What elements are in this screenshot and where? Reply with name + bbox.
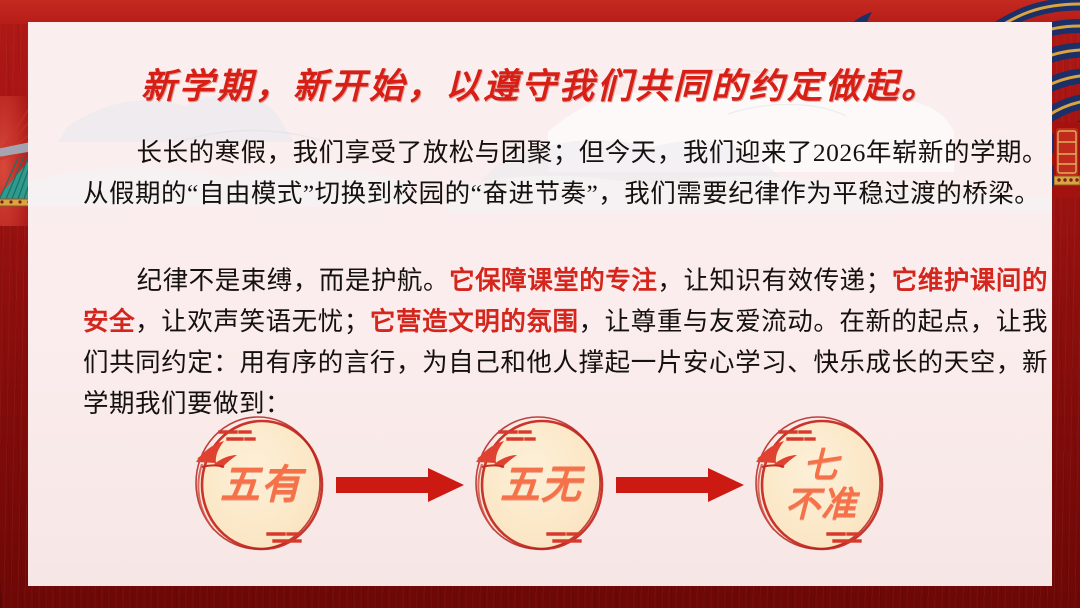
paragraph-2: 纪律不是束缚，而是护航。它保障课堂的专注，让知识有效传递；它维护课间的安全，让欢…: [83, 260, 1048, 424]
badge-wuyou-label-line-0: 五有: [220, 465, 302, 505]
background-top-band: [0, 0, 1080, 24]
paragraph-2-run-5-highlight: 它营造文明的氛围: [370, 307, 579, 336]
badge-qibuzhun-label: 七不准: [760, 420, 882, 550]
poster-canvas: 新学期，新开始，以遵守我们共同的约定做起。 长长的寒假，我们享受了放松与团聚；但…: [0, 0, 1080, 608]
badge-wuyou-label: 五有: [200, 420, 322, 550]
badge-qibuzhun: 七不准: [744, 412, 896, 557]
badge-qibuzhun-label-line-0: 七: [803, 448, 839, 483]
badge-wuwu-label: 五无: [480, 420, 602, 550]
paragraph-1: 长长的寒假，我们享受了放松与团聚；但今天，我们迎来了2026年崭新的学期。从假期…: [83, 132, 1048, 214]
paragraph-2-run-2: ，让知识有效传递；: [657, 266, 891, 295]
badge-wuwu: 五无: [464, 412, 616, 557]
paragraph-2-run-1-highlight: 它保障课堂的专注: [449, 266, 657, 295]
arrow-1-icon: [336, 468, 464, 502]
page-title: 新学期，新开始，以遵守我们共同的约定做起。: [28, 58, 1052, 109]
badge-row: 五有 五无: [28, 412, 1052, 557]
paragraph-2-run-4: ，让欢声笑语无忧；: [135, 307, 370, 336]
paragraph-2-run-0: 纪律不是束缚，而是护航。: [137, 266, 450, 295]
badge-wuwu-label-line-0: 五无: [500, 465, 582, 505]
badge-wuyou: 五有: [184, 412, 336, 557]
badge-qibuzhun-label-line-1: 不准: [785, 487, 857, 522]
arrow-2-icon: [616, 468, 744, 502]
paragraph-1-run-0: 长长的寒假，我们享受了放松与团聚；但今天，我们迎来了2026年崭新的学期。从假期…: [83, 138, 1048, 208]
